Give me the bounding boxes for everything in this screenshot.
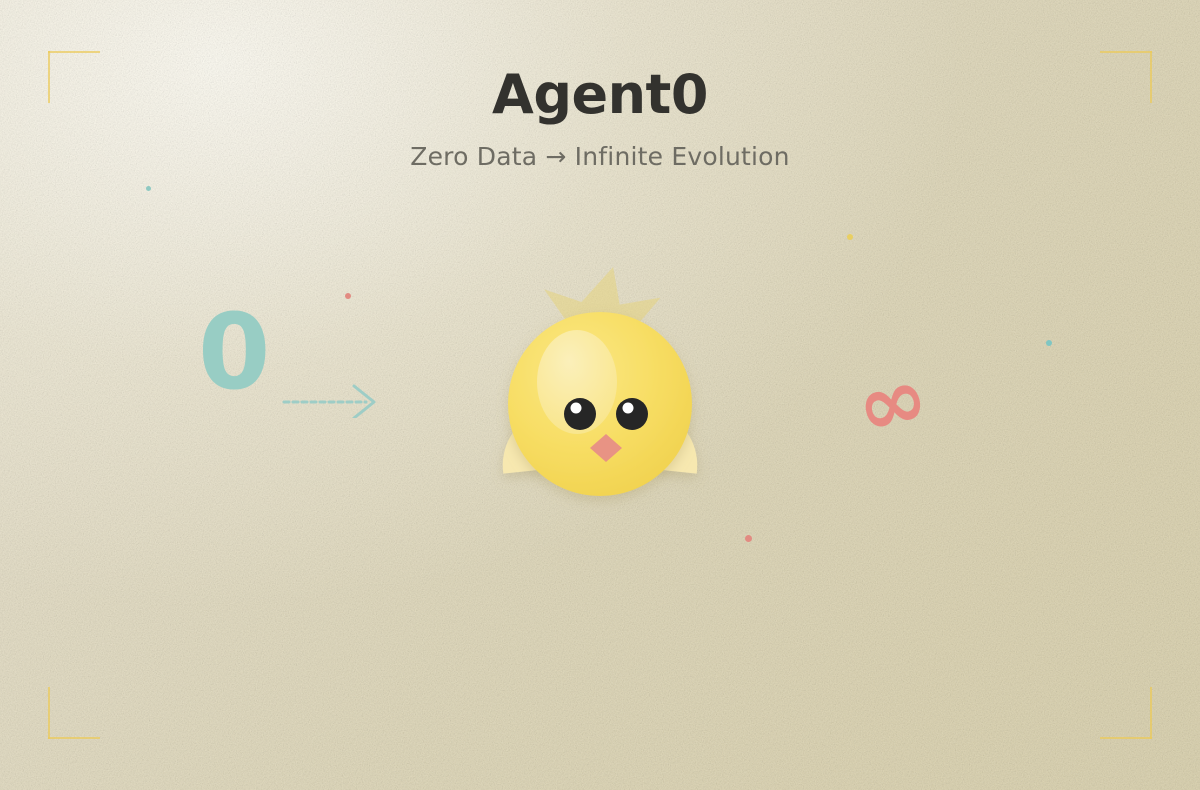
floating-dot-salmon-low: [745, 535, 752, 542]
eye-right-icon: [616, 398, 648, 430]
zero-glyph: 0: [198, 300, 270, 404]
infinity-glyph: ∞: [848, 353, 936, 451]
eye-left-icon: [564, 398, 596, 430]
floating-dot-teal-right: [1046, 340, 1052, 346]
bracket-line-horizontal: [1100, 737, 1152, 739]
chick-mascot: [480, 262, 720, 502]
corner-bracket-bottom-left: [48, 687, 100, 739]
floating-dot-yellow-right: [847, 234, 853, 240]
bracket-line-vertical: [48, 687, 50, 739]
corner-bracket-bottom-right: [1100, 687, 1152, 739]
bracket-line-horizontal: [1100, 51, 1152, 53]
arrow-right-icon: [282, 382, 380, 418]
page-subtitle: Zero Data → Infinite Evolution: [0, 142, 1200, 171]
bracket-line-horizontal: [48, 51, 100, 53]
splash-screen: Agent0 Zero Data → Infinite Evolution 0 …: [0, 0, 1200, 790]
page-title: Agent0: [0, 68, 1200, 122]
floating-dot-teal-left: [146, 186, 151, 191]
bracket-line-horizontal: [48, 737, 100, 739]
floating-dot-salmon-left: [345, 293, 351, 299]
bracket-line-vertical: [1150, 687, 1152, 739]
header: Agent0 Zero Data → Infinite Evolution: [0, 68, 1200, 171]
